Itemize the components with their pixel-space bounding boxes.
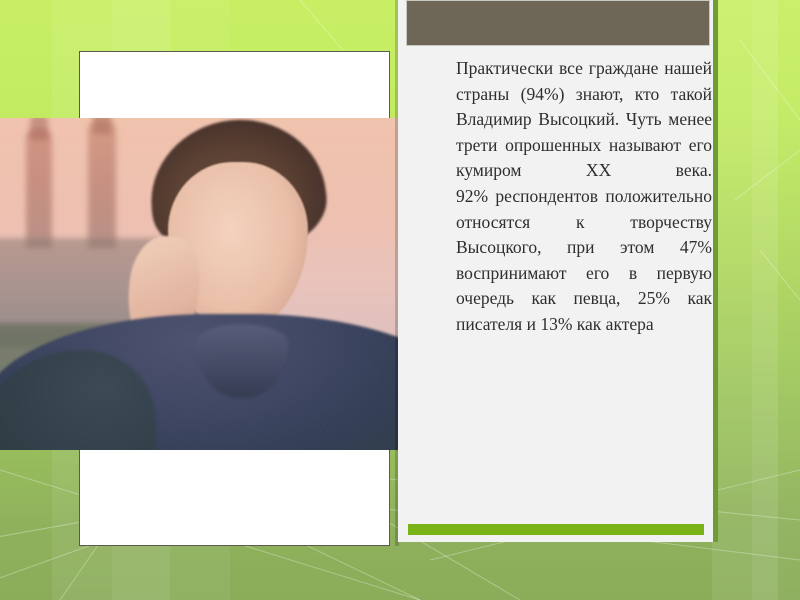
slide-canvas: Avi Практически все граждане нашей стран… (0, 0, 800, 600)
paragraph-2: 92% респондентов положительно относятся … (456, 184, 712, 338)
background-tower-icon (30, 118, 48, 140)
text-content-panel: Практически все граждане нашей страны (9… (398, 0, 718, 542)
paragraph-1: Практически все граждане нашей страны (9… (456, 56, 712, 184)
body-text[interactable]: Практически все граждане нашей страны (9… (456, 56, 712, 338)
accent-bar (408, 524, 704, 535)
background-tower-icon (93, 118, 111, 134)
portrait-photo: Avi (0, 118, 450, 450)
background-tower-icon (88, 120, 116, 248)
background-band (712, 0, 752, 600)
background-band (778, 0, 800, 600)
photo-canvas: Avi (0, 118, 450, 450)
title-placeholder[interactable] (406, 0, 710, 46)
background-tower-icon (26, 128, 52, 248)
background-band (752, 0, 778, 600)
